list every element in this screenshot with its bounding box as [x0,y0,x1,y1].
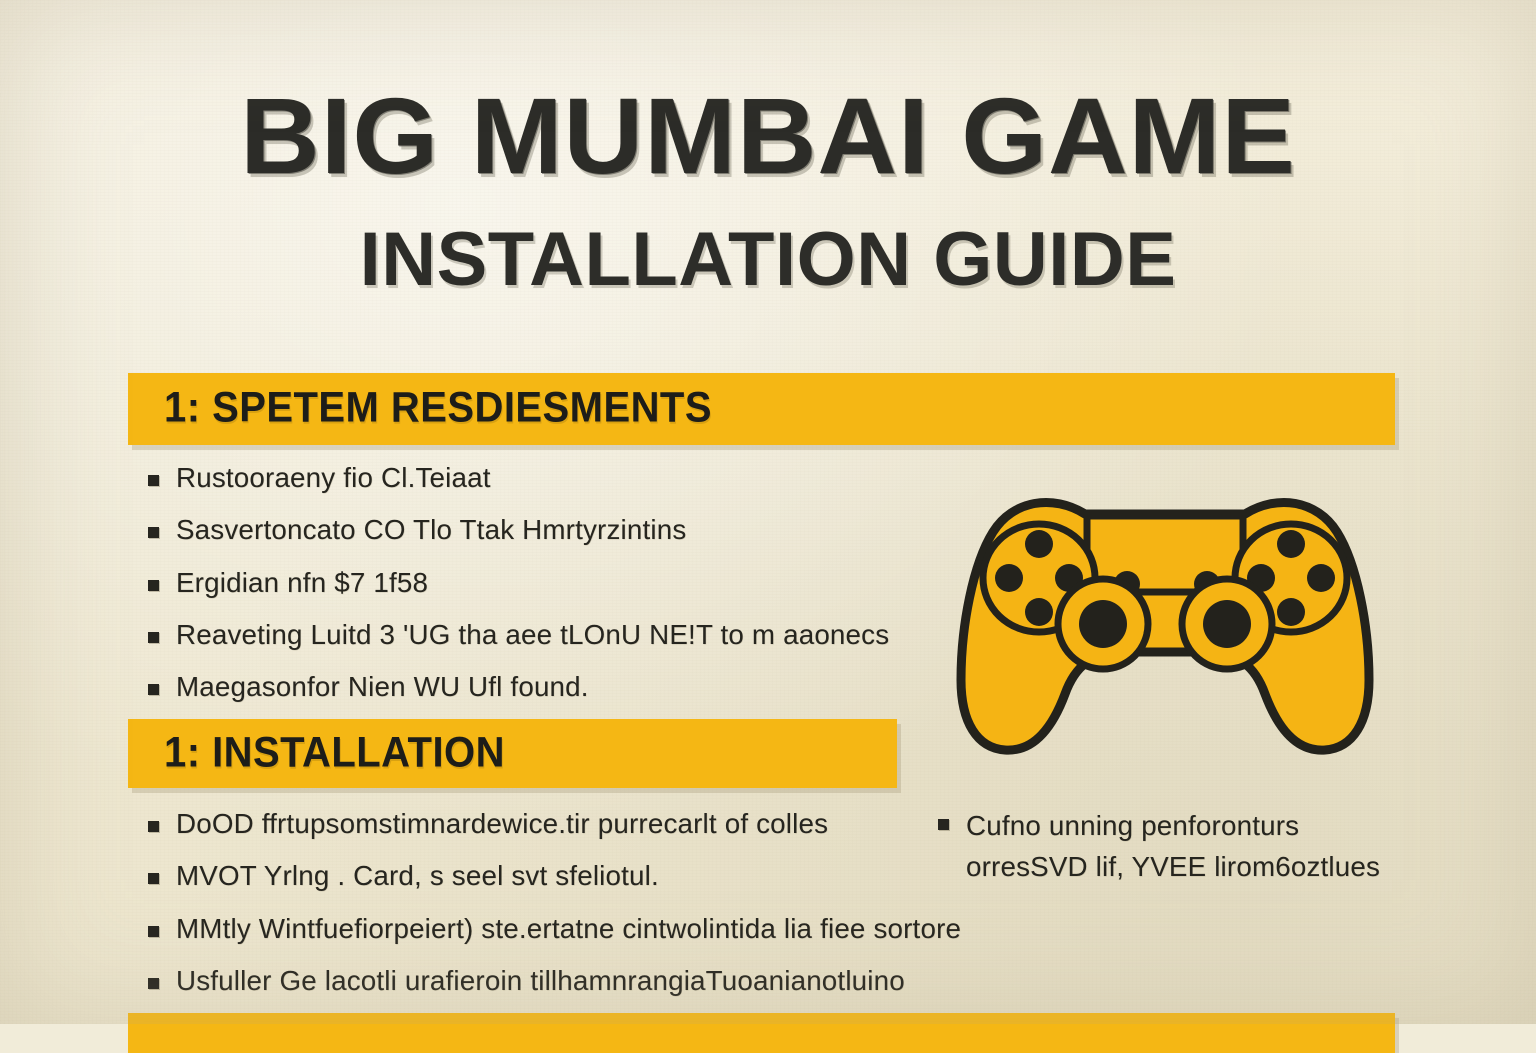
bullet-square-icon [148,821,159,832]
analog-stick-right [1203,600,1251,648]
list-item: MMtly Wintfuefiorpeiert) ste.ertatne cin… [148,913,969,944]
list-item-label: MMtly Wintfuefiorpeiert) ste.ertatne cin… [176,913,961,944]
list-item: Reaveting Luitd 3 'UG tha aee tLOnU NE!T… [148,619,897,650]
section-header-label-1: 1: SPETEM RESDIESMENTS [164,384,712,433]
face-button-cross [1277,598,1305,626]
requirements-list: Rustooraeny fio Cl.Teiaat Sasvertoncato … [148,462,897,724]
list-item-label: Maegasonfor Nien WU Ufl found. [176,671,589,702]
bullet-square-icon [148,580,159,591]
analog-stick-left [1079,600,1127,648]
bullet-square-icon [148,632,159,643]
list-item: DoOD ffrtupsomstimnardewice.tir purrecar… [148,808,969,839]
list-item-label: Rustooraeny fio Cl.Teiaat [176,462,491,493]
list-item: MVOT Yrlng . Card, s seel svt sfeliotul. [148,860,969,891]
list-item: Ergidian nfn $7 1f58 [148,567,897,598]
list-item-label: Cufno unning penforonturs orresSVD lif, … [966,806,1394,887]
bullet-square-icon [148,926,159,937]
face-button-triangle [1277,530,1305,558]
list-item: Rustooraeny fio Cl.Teiaat [148,462,897,493]
list-item-label: Ergidian nfn $7 1f58 [176,567,428,598]
section-header-bar-2: 1: INSTALLATION [128,719,897,788]
list-item: Cufno unning penforonturs orresSVD lif, … [928,806,1398,887]
controller-body-group [961,502,1369,750]
bullet-square-icon [938,819,949,830]
game-controller-illustration [935,466,1395,766]
list-item: Maegasonfor Nien WU Ufl found. [148,671,897,702]
dpad-button-left [995,564,1023,592]
section-header-bar-1: 1: SPETEM RESDIESMENTS [128,373,1395,445]
bullet-square-icon [148,527,159,538]
list-item-label: MVOT Yrlng . Card, s seel svt sfeliotul. [176,860,659,891]
page-subtitle: INSTALLATION GUIDE [0,222,1536,298]
list-item-label: DoOD ffrtupsomstimnardewice.tir purrecar… [176,808,828,839]
section-header-label-2: 1: INSTALLATION [164,728,505,777]
bullet-square-icon [148,873,159,884]
face-button-circle [1307,564,1335,592]
installation-list: DoOD ffrtupsomstimnardewice.tir purrecar… [148,808,969,1017]
installation-notes-list: Cufno unning penforonturs orresSVD lif, … [928,806,1398,908]
list-item-label: Sasvertoncato CO Tlo Ttak Hmrtyrzintins [176,514,686,545]
list-item: Usfuller Ge lacotli urafieroin tillhamnr… [148,965,969,996]
list-item-label: Reaveting Luitd 3 'UG tha aee tLOnU NE!T… [176,619,889,650]
list-item: Sasvertoncato CO Tlo Ttak Hmrtyrzintins [148,514,897,545]
bullet-square-icon [148,475,159,486]
bullet-square-icon [148,684,159,695]
poster-page: BIG MUMBAI GAME INSTALLATION GUIDE 1: SP… [0,0,1536,1024]
dpad-button-down [1025,598,1053,626]
list-item-label: Usfuller Ge lacotli urafieroin tillhamnr… [176,965,905,996]
dpad-button-up [1025,530,1053,558]
page-title: BIG MUMBAI GAME [0,82,1536,190]
bullet-square-icon [148,978,159,989]
section-header-bar-3 [128,1013,1395,1053]
